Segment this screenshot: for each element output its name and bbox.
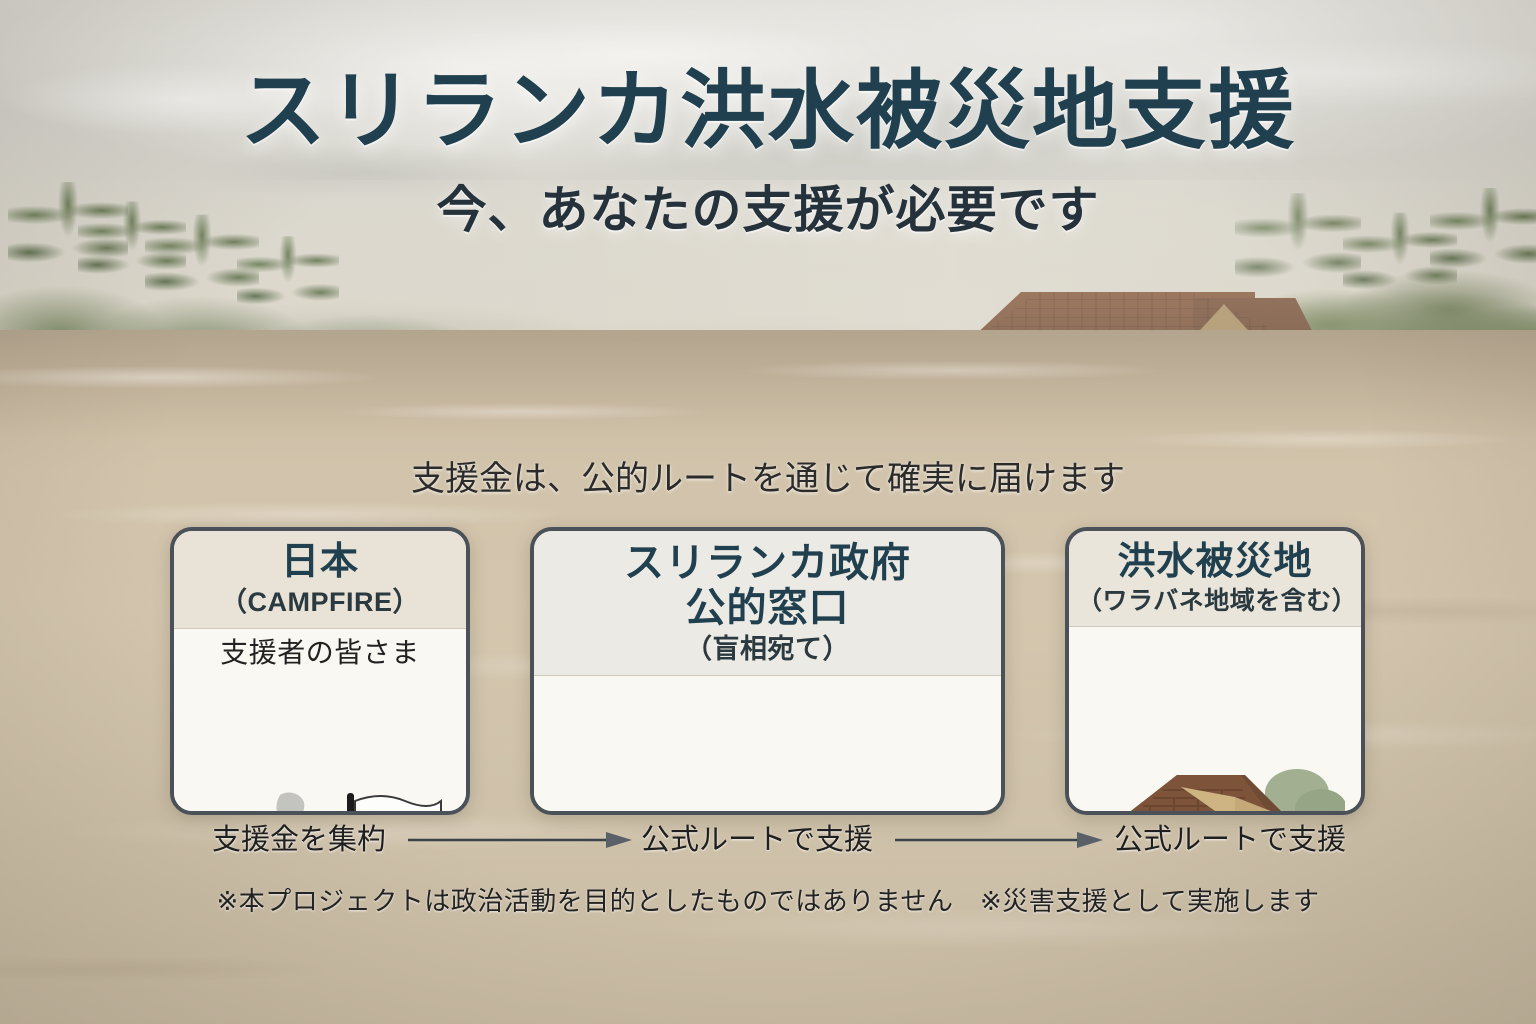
- japan-map-icon: [194, 787, 329, 815]
- step-label-official-route-2: 公式ルートで支援: [1114, 818, 1346, 862]
- card-artwork: [1069, 753, 1361, 815]
- card-title: 日本: [182, 541, 458, 584]
- card-subtitle: （CAMPFIRE）: [182, 586, 458, 618]
- step-label-collect: 支援金を集杓: [212, 818, 386, 862]
- flow-card-japan: 日本 （CAMPFIRE） 支援者の皆さま: [170, 527, 470, 815]
- disclaimer-text: ※本プロジェクトは政治活動を目的としたものではありません ※災害支援として実施し…: [0, 888, 1536, 914]
- poster-content: スリランカ洪水被災地支援 今、あなたの支援が必要です 支援金は、公的ルートを通じ…: [0, 0, 1536, 1024]
- card-artwork: [174, 787, 466, 815]
- card-body: 支援者の皆さま: [174, 629, 466, 815]
- flooded-house-illustration: [1085, 753, 1345, 815]
- card-title: 洪水被災地: [1077, 541, 1353, 584]
- page-subtitle: 今、あなたの支援が必要です: [0, 185, 1536, 235]
- page-title: スリランカ洪水被災地支援: [0, 68, 1536, 154]
- card-body: [534, 676, 1001, 815]
- card-title-line1: スリランカ政府: [542, 541, 993, 586]
- flow-card-disaster-area: 洪水被災地 （ワラバネ地域を含む）: [1065, 527, 1365, 815]
- card-body: [1069, 627, 1361, 815]
- card-title-line2: 公的窓口: [542, 586, 993, 631]
- flow-diagram: 日本 （CAMPFIRE） 支援者の皆さま: [0, 527, 1536, 815]
- thin-arrow-right-icon: [408, 831, 632, 849]
- flow-card-srilanka-government: スリランカ政府 公的窓口 （盲相宛て）: [530, 527, 1005, 815]
- japan-flag-icon: [337, 787, 447, 815]
- step-label-official-route-1: 公式ルートで支援: [641, 818, 873, 862]
- card-header: 日本 （CAMPFIRE）: [174, 531, 466, 629]
- card-header: 洪水被災地 （ワラバネ地域を含む）: [1069, 531, 1361, 627]
- card-subtitle: （盲相宛て）: [542, 633, 993, 665]
- flow-step-labels: 支援金を集杓 公式ルートで支援 公式ルートで支援: [0, 818, 1536, 866]
- card-header: スリランカ政府 公的窓口 （盲相宛て）: [534, 531, 1001, 676]
- poster-root: スリランカ洪水被災地支援 今、あなたの支援が必要です 支援金は、公的ルートを通じ…: [0, 0, 1536, 1024]
- flow-caption: 支援金は、公的ルートを通じて確実に届けます: [0, 462, 1536, 496]
- thin-arrow-right-icon: [895, 831, 1103, 849]
- card-note: 支援者の皆さま: [174, 629, 466, 667]
- card-subtitle: （ワラバネ地域を含む）: [1077, 586, 1353, 616]
